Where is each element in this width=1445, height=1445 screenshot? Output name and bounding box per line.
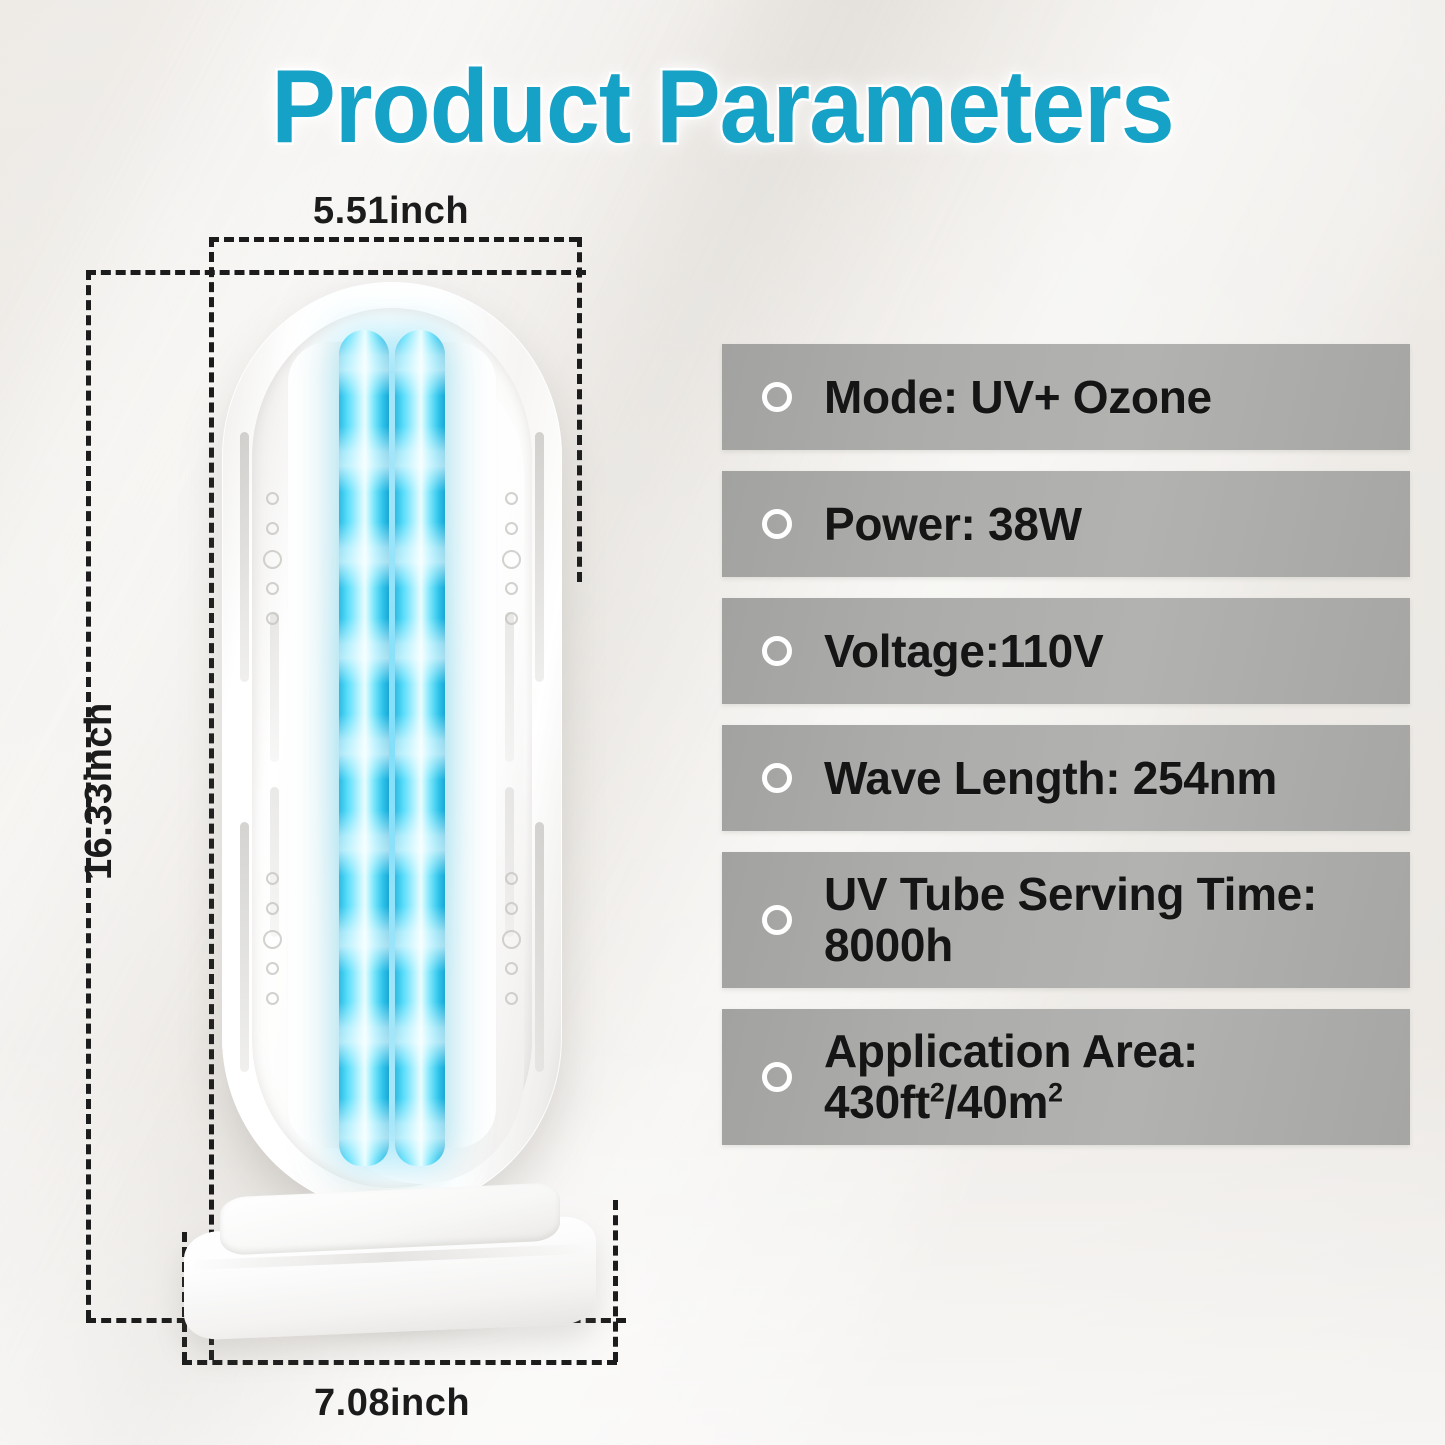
uv-tube-right: [395, 330, 445, 1166]
lamp-slot-right-upper: [505, 612, 514, 762]
lamp-dot-left-4: [266, 582, 279, 595]
bullet-circle-icon: [762, 636, 792, 666]
parameter-text-tube-life-line1: UV Tube Serving Time:: [824, 868, 1317, 920]
page-title: Product Parameters: [51, 48, 1395, 167]
lamp-base: [184, 1190, 596, 1348]
dimension-line-height-vertical: [86, 270, 91, 1320]
parameter-text-application-area-line1: Application Area:: [824, 1025, 1198, 1077]
parameter-text-application-area: Application Area: 430ft2/40m2: [824, 1026, 1198, 1127]
lamp-dot-right-6: [505, 872, 518, 885]
bullet-circle-icon: [762, 1062, 792, 1092]
parameter-row-mode: Mode: UV+ Ozone: [722, 344, 1410, 450]
parameter-text-voltage: Voltage:110V: [824, 626, 1103, 677]
lamp-dot-left-1: [266, 492, 279, 505]
dimension-line-width-top: [209, 237, 579, 242]
parameter-list: Mode: UV+ Ozone Power: 38W Voltage:110V …: [722, 344, 1410, 1166]
parameter-row-power: Power: 38W: [722, 471, 1410, 577]
lamp-dot-left-3: [263, 550, 282, 569]
lamp-slot-left-upper: [270, 612, 279, 762]
parameter-row-wavelength: Wave Length: 254nm: [722, 725, 1410, 831]
parameter-text-application-area-line2: 430ft2/40m2: [824, 1077, 1198, 1128]
lamp-dot-left-5: [266, 612, 279, 625]
dimension-label-width: 5.51inch: [313, 190, 469, 233]
lamp-dot-right-10: [505, 992, 518, 1005]
dimension-line-depth-right-vertical: [613, 1200, 618, 1362]
bullet-circle-icon: [762, 382, 792, 412]
lamp-dot-left-2: [266, 522, 279, 535]
bullet-circle-icon: [762, 905, 792, 935]
parameter-row-voltage: Voltage:110V: [722, 598, 1410, 704]
lamp-dot-right-4: [505, 582, 518, 595]
parameter-text-tube-life: UV Tube Serving Time: 8000h: [824, 869, 1317, 970]
bullet-circle-icon: [762, 509, 792, 539]
lamp-dot-right-1: [505, 492, 518, 505]
lamp-dot-left-7: [266, 902, 279, 915]
lamp-body-shell: [222, 282, 562, 1212]
product-image: [170, 260, 610, 1370]
uv-tube-left: [339, 330, 389, 1166]
dimension-label-height: 16.33inch: [78, 702, 121, 880]
lamp-dot-right-8: [502, 930, 521, 949]
lamp-dot-right-2: [505, 522, 518, 535]
bullet-circle-icon: [762, 763, 792, 793]
lamp-dot-right-9: [505, 962, 518, 975]
parameter-text-wavelength: Wave Length: 254nm: [824, 753, 1277, 804]
parameter-row-tube-life: UV Tube Serving Time: 8000h: [722, 852, 1410, 988]
lamp-dot-left-9: [266, 962, 279, 975]
lamp-vent-left-lower: [240, 822, 249, 1072]
lamp-vent-left-upper: [240, 432, 249, 682]
lamp-dot-right-7: [505, 902, 518, 915]
lamp-dot-right-5: [505, 612, 518, 625]
parameter-row-application-area: Application Area: 430ft2/40m2: [722, 1009, 1410, 1145]
dimension-label-depth: 7.08inch: [314, 1382, 470, 1425]
parameter-text-mode: Mode: UV+ Ozone: [824, 372, 1212, 423]
lamp-dot-left-10: [266, 992, 279, 1005]
lamp-dot-left-8: [263, 930, 282, 949]
lamp-dot-right-3: [502, 550, 521, 569]
parameter-text-tube-life-line2: 8000h: [824, 920, 1317, 971]
parameter-text-power: Power: 38W: [824, 499, 1082, 550]
product-parameters-infographic: Product Parameters 5.51inch 16.33inch 7.…: [0, 0, 1445, 1445]
lamp-vent-right-upper: [535, 432, 544, 682]
lamp-vent-right-lower: [535, 822, 544, 1072]
uv-tube-pair: [336, 330, 448, 1166]
lamp-dot-left-6: [266, 872, 279, 885]
